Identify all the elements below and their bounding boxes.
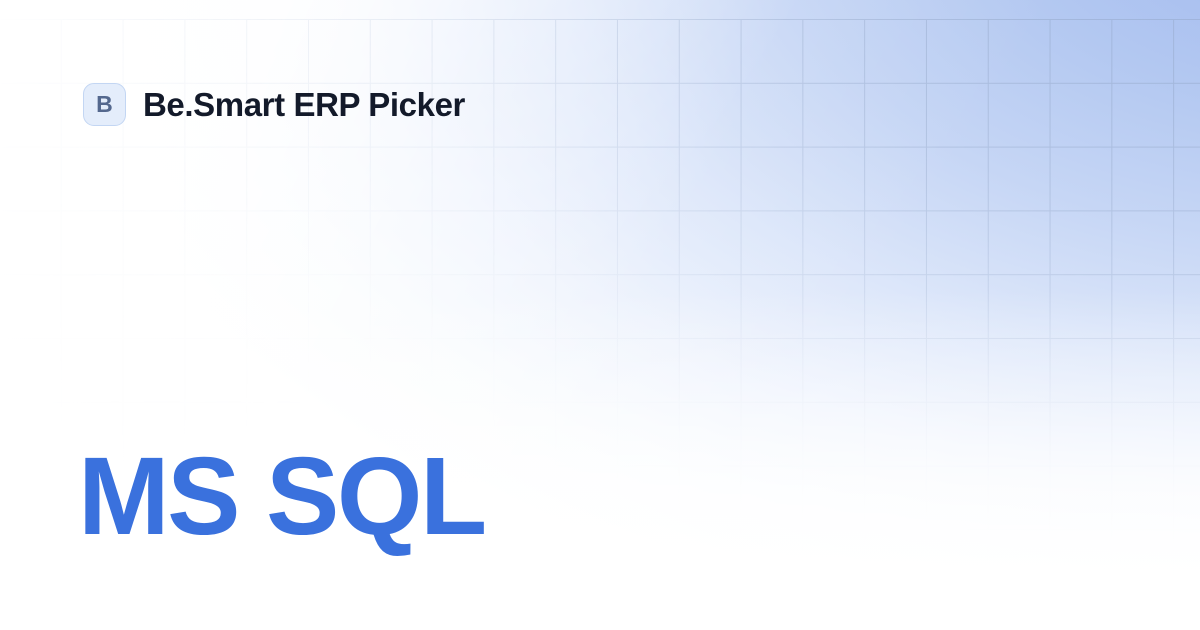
brand-monogram-b-icon: B — [96, 93, 113, 116]
brand-title: Be.Smart ERP Picker — [143, 88, 465, 121]
page-title: MS SQL — [78, 442, 485, 552]
brand-badge: B — [83, 83, 126, 126]
card-content: B Be.Smart ERP Picker MS SQL — [0, 0, 1200, 630]
brand-lockup: B Be.Smart ERP Picker — [83, 83, 465, 126]
og-image-card: B Be.Smart ERP Picker MS SQL — [0, 0, 1200, 630]
